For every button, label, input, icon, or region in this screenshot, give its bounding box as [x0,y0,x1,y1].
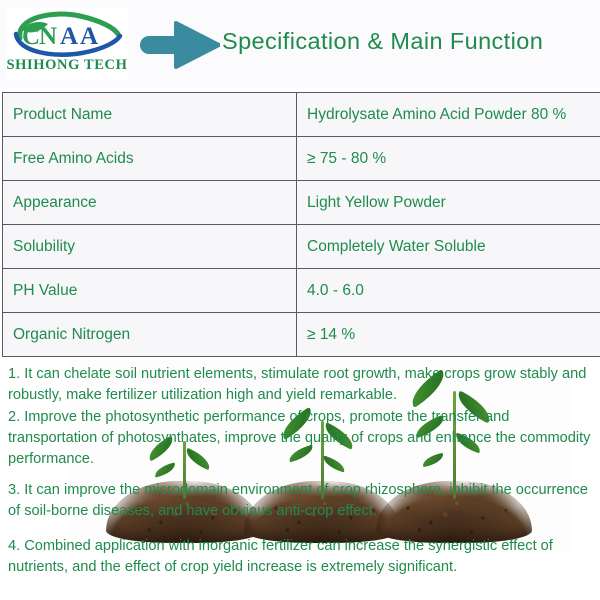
svg-text:N: N [39,23,57,50]
specification-table: Product Name Hydrolysate Amino Acid Powd… [2,92,600,357]
spec-value: Completely Water Soluble [297,225,600,269]
company-logo: C N A A SHIHONG TECH [6,8,128,80]
spec-value: ≥ 14 % [297,313,600,357]
feature-paragraph: 1. It can chelate soil nutrient elements… [8,364,594,406]
product-spec-page: C N A A SHIHONG TECH Specification & Mai… [0,0,600,600]
table-row: Organic Nitrogen ≥ 14 % [3,313,600,357]
spec-label: Product Name [3,93,297,137]
feature-paragraph: 2. Improve the photosynthetic performanc… [8,407,594,470]
svg-text:A: A [60,23,78,50]
svg-text:A: A [80,23,98,50]
table-row: Solubility Completely Water Soluble [3,225,600,269]
spec-value: 4.0 - 6.0 [297,269,600,313]
table-row: Appearance Light Yellow Powder [3,181,600,225]
page-header: C N A A SHIHONG TECH Specification & Mai… [0,0,600,88]
right-arrow-icon [140,21,220,69]
brand-name: SHIHONG TECH [6,57,128,74]
svg-text:C: C [22,23,40,50]
table-row: PH Value 4.0 - 6.0 [3,269,600,313]
spec-label: Solubility [3,225,297,269]
spec-label: Free Amino Acids [3,137,297,181]
feature-paragraph: 3. It can improve the microdomain enviro… [8,480,594,522]
spec-value: Hydrolysate Amino Acid Powder 80 % [297,93,600,137]
spec-value: ≥ 75 - 80 % [297,137,600,181]
page-title: Specification & Main Function [222,28,543,55]
table-row: Product Name Hydrolysate Amino Acid Powd… [3,93,600,137]
spec-label: Appearance [3,181,297,225]
table-row: Free Amino Acids ≥ 75 - 80 % [3,137,600,181]
cnaa-logo-icon: C N A A [6,8,128,58]
spec-value: Light Yellow Powder [297,181,600,225]
feature-paragraph: 4. Combined application with inorganic f… [8,536,594,578]
feature-section: 1. It can chelate soil nutrient elements… [0,358,600,600]
spec-label: PH Value [3,269,297,313]
spec-label: Organic Nitrogen [3,313,297,357]
